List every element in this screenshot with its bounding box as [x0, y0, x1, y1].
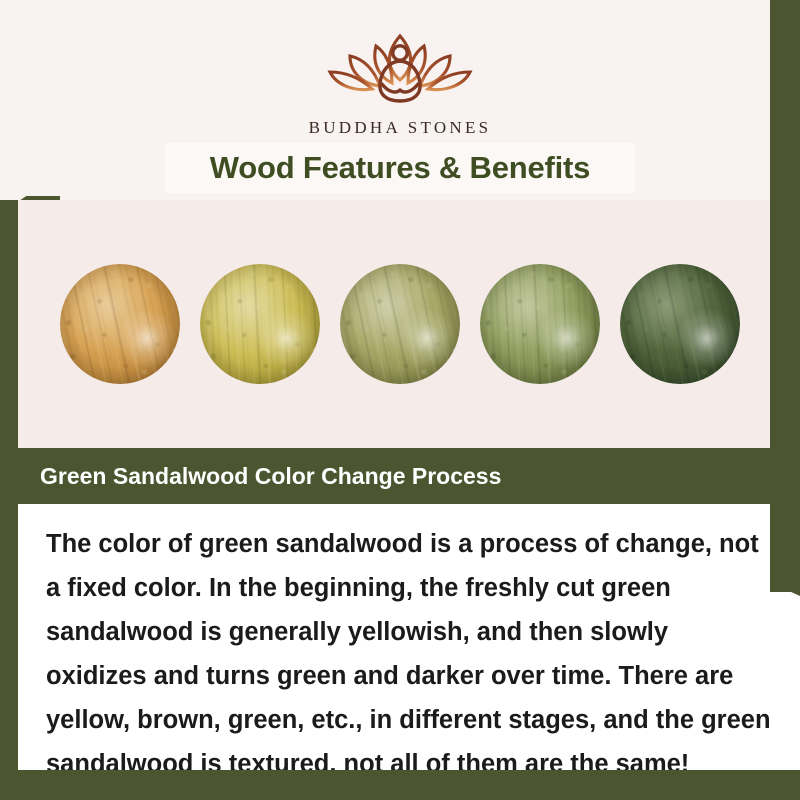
section-body-text: The color of green sandalwood is a proce… [46, 522, 772, 786]
wood-bead [200, 264, 320, 384]
wood-bead [340, 264, 460, 384]
bead-shading [620, 264, 740, 384]
wood-bead [60, 264, 180, 384]
page-title: Wood Features & Benefits [210, 150, 590, 186]
frame-right [770, 0, 800, 592]
wood-bead [620, 264, 740, 384]
bead-row [18, 200, 782, 448]
brand-logo: BUDDHA STONES [0, 26, 800, 138]
body-panel: The color of green sandalwood is a proce… [18, 504, 800, 770]
section-heading: Green Sandalwood Color Change Process [40, 463, 501, 490]
brand-name: BUDDHA STONES [309, 118, 492, 138]
bead-shading [200, 264, 320, 384]
lotus-meditation-icon [316, 26, 484, 110]
frame-bottom [0, 770, 800, 800]
bead-shading [480, 264, 600, 384]
poster: BUDDHA STONES Wood Features & Benefits G… [0, 0, 800, 800]
bead-shading [60, 264, 180, 384]
wood-bead [480, 264, 600, 384]
section-banner: Green Sandalwood Color Change Process [18, 448, 570, 504]
title-band: Wood Features & Benefits [165, 143, 635, 193]
bead-showcase [18, 200, 782, 448]
frame-left [0, 200, 18, 800]
bead-shading [340, 264, 460, 384]
